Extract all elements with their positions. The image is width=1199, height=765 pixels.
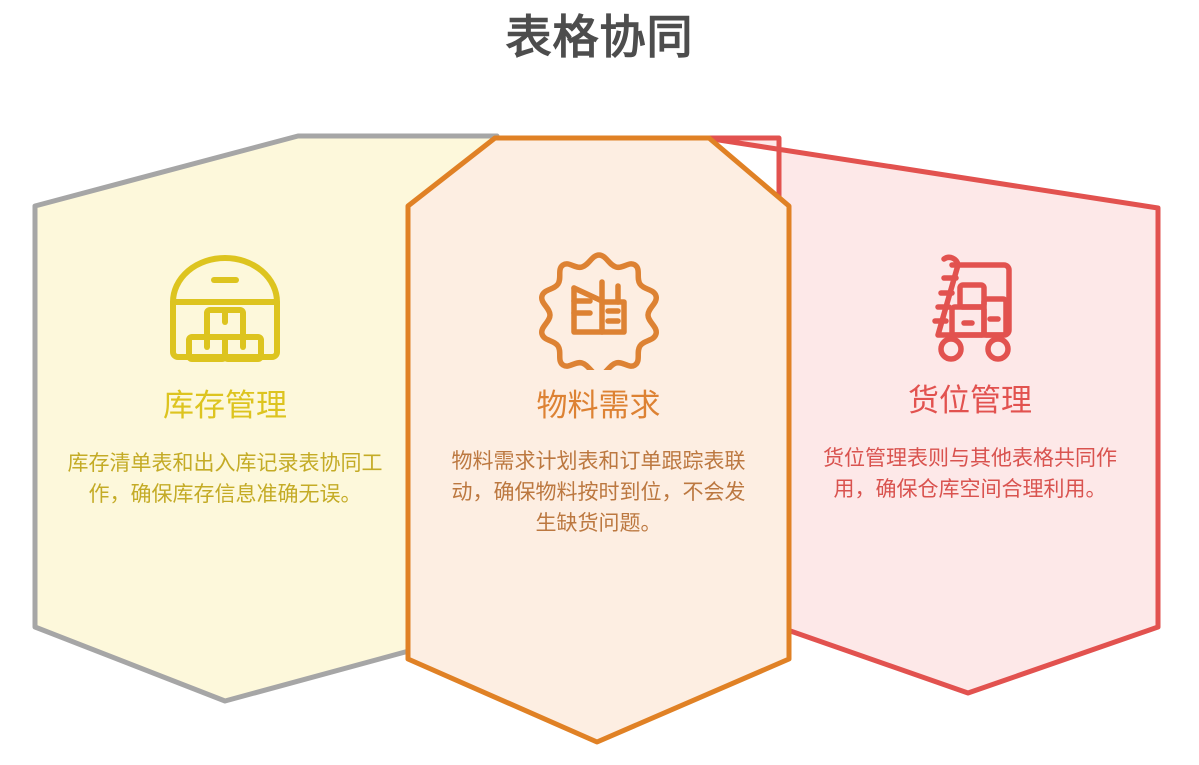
panel-heading-inventory-management: 库存管理 [35,386,415,426]
factory-badge-icon [538,248,660,370]
panel-material-requirement: 物料需求 物料需求计划表和订单跟踪表联动，确保物料按时到位，不会发生缺货问题。 [407,248,790,539]
panel-heading-location-management: 货位管理 [781,381,1159,421]
warehouse-icon [166,252,284,364]
panel-inventory-management: 库存管理 库存清单表和出入库记录表协同工作，确保库存信息准确无误。 [35,252,415,510]
panel-location-management: 货位管理 货位管理表则与其他表格共同作用，确保仓库空间合理利用。 [781,243,1159,505]
panel-body-inventory-management: 库存清单表和出入库记录表协同工作，确保库存信息准确无误。 [35,448,415,510]
panel-body-location-management: 货位管理表则与其他表格共同作用，确保仓库空间合理利用。 [781,443,1159,505]
panel-body-material-requirement: 物料需求计划表和订单跟踪表联动，确保物料按时到位，不会发生缺货问题。 [407,446,790,539]
hand-truck-icon [914,243,1026,363]
panel-heading-material-requirement: 物料需求 [407,386,790,426]
